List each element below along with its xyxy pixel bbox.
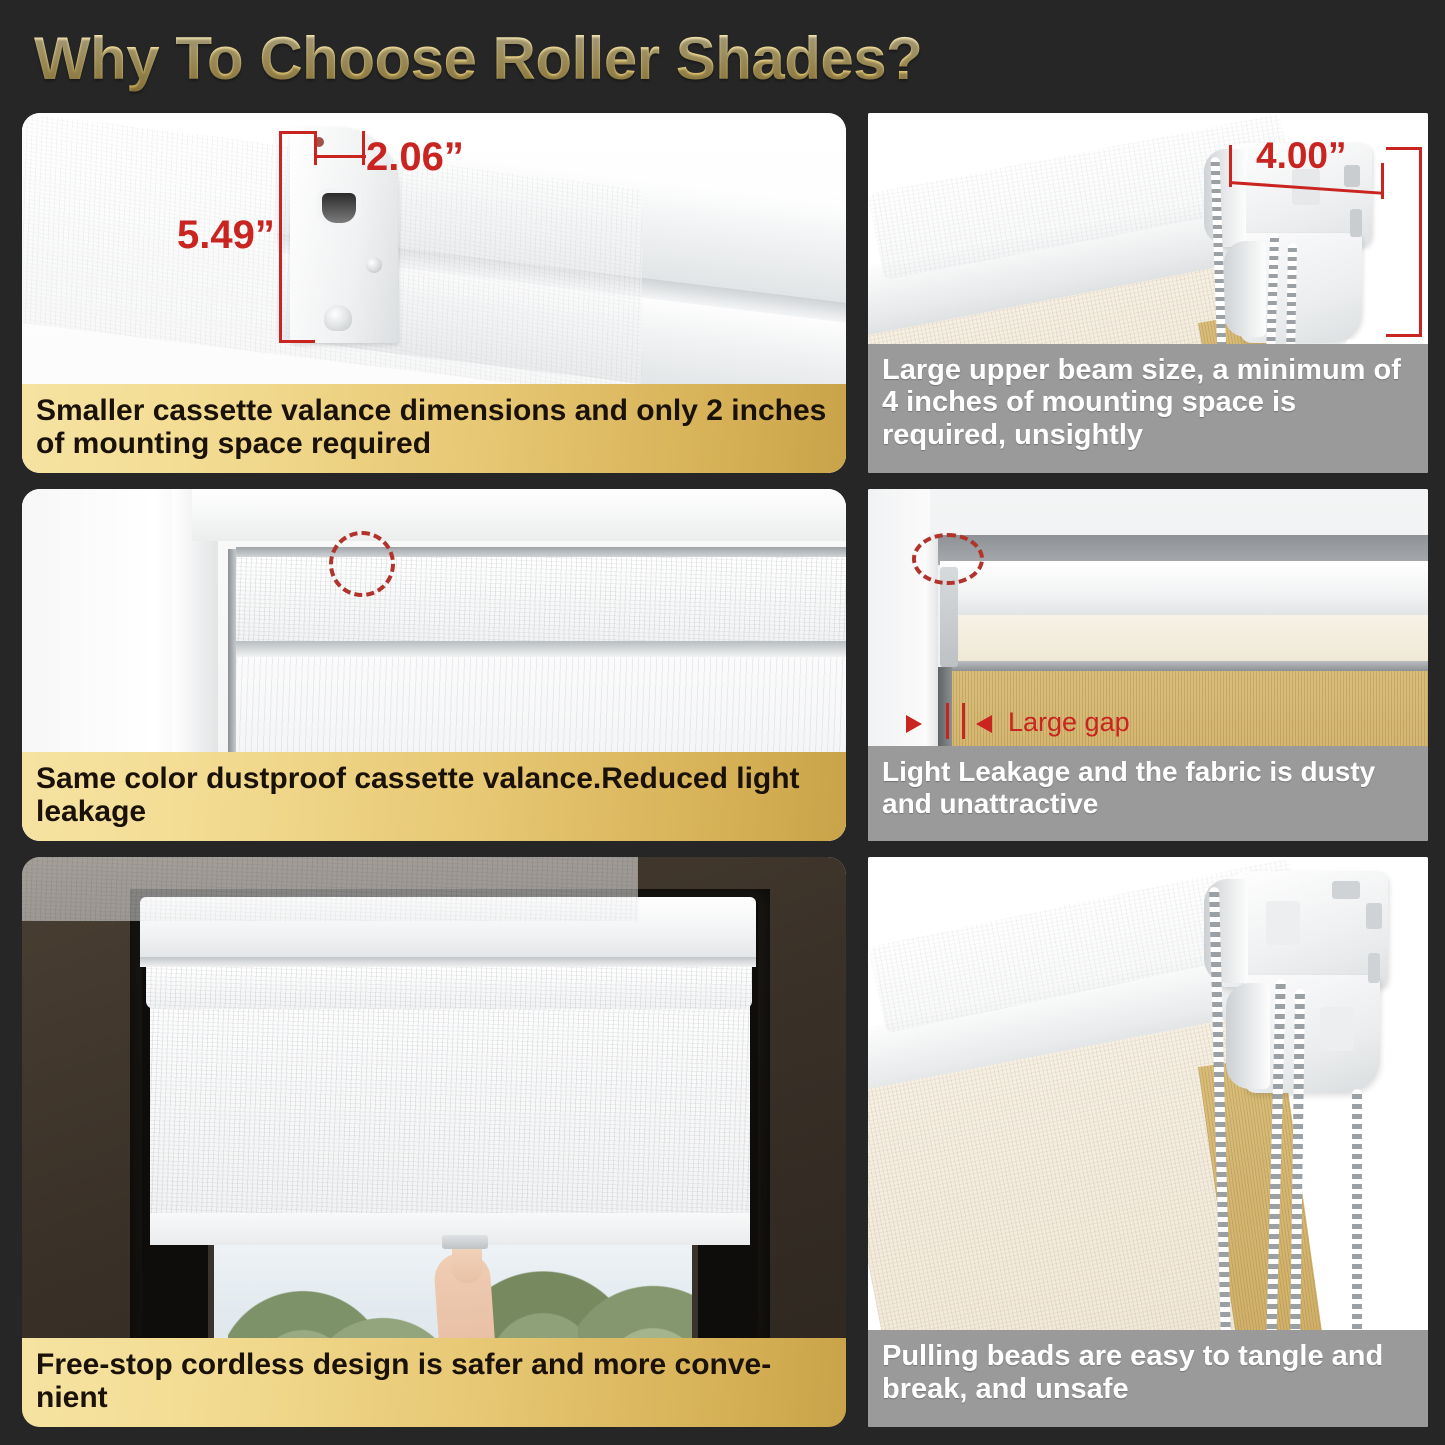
width-dim-line [314,155,366,158]
beam-width-label: 4.00” [1256,135,1347,177]
height-dim-tick-bottom [279,340,315,343]
large-gap-arrow-right [976,715,992,733]
panel-smaller-cassette: 2.06” 5.49” Smaller cassette valance dim… [22,113,846,473]
panel-dustproof-valance: smaller gap Same color dustproof cassett… [22,489,846,841]
large-gap-arrow-left [906,715,922,733]
panel-3-caption: Same color dustproof cassette valance.Re… [22,752,846,841]
panel-1-caption: Smaller cassette valance dimensions and … [22,384,846,473]
gap-highlight-ellipse [329,531,395,597]
panel-5-caption-line-2: nient [36,1381,832,1415]
panel-2-caption: Large upper beam size, a minimum of 4 in… [868,344,1428,473]
height-dim-line [279,131,282,343]
panel-5-caption: Free-stop cordless design is safer and m… [22,1338,846,1427]
width-dimension-label: 2.06” [366,135,464,180]
panel-6-caption: Pulling beads are easy to tangle and bre… [868,1330,1428,1427]
panel-pulling-beads: Pulling beads are easy to tangle and bre… [868,857,1428,1427]
beam-height-line [1419,147,1422,337]
large-gap-line-2 [962,703,965,739]
panel-light-leakage: Large gap Light Leakage and the fabric i… [868,489,1428,841]
height-dim-tick-top [279,131,315,134]
page-title: Why To Choose Roller Shades? [34,22,1034,96]
panel-cordless-design: Free-stop cordless design is safer and m… [22,857,846,1427]
panel-5-caption-line-1: Free-stop cordless design is safer and m… [36,1348,832,1382]
height-dimension-label: 5.49” [177,213,275,258]
width-dim-tick-left [314,131,317,165]
large-gap-label: Large gap [1008,707,1130,738]
beam-height-tick-top [1386,147,1422,150]
panel-large-beam: 4.00” 4.00” Large upper beam size, a min… [868,113,1428,473]
beam-height-tick-bottom [1386,334,1422,337]
width-dim-tick-right [362,131,365,165]
large-gap-line-1 [946,703,949,739]
bracket-highlight-ellipse [912,533,984,585]
infographic-root: Why To Choose Roller Shades? 2.06” [0,0,1445,1445]
panel-4-caption: Light Leakage and the fabric is dusty an… [868,746,1428,841]
